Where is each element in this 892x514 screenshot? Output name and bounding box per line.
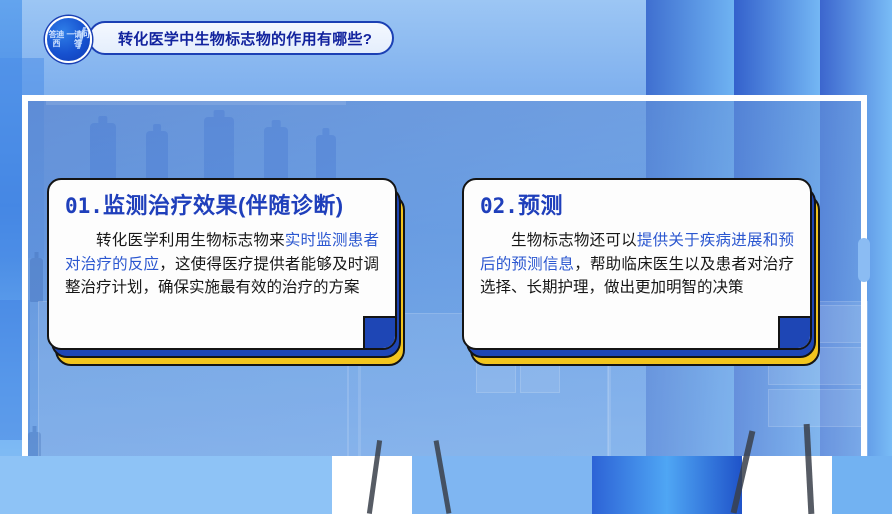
lab-bottle xyxy=(90,123,116,185)
card-title-1: 01.监测治疗效果(伴随诊断) xyxy=(65,194,379,218)
body-text: 转化医学利用生物标志物来 xyxy=(96,232,285,249)
slide-canvas: 答迪西一请问答 转化医学中生物标志物的作用有哪些? 01.监测治疗效果(伴随诊断… xyxy=(0,0,892,514)
brand-logo: 答迪西一请问答 xyxy=(45,16,92,63)
body-text: 生物标志物还可以 xyxy=(511,232,637,249)
frame-right-notch xyxy=(858,238,870,282)
floor-chip xyxy=(592,456,742,514)
card-body-2: 生物标志物还可以提供关于疾病进展和预后的预测信息，帮助临床医生以及患者对治疗选择… xyxy=(480,229,794,300)
card-number-2: 02. xyxy=(480,194,518,218)
floor-chip xyxy=(832,456,892,514)
page-title-pill: 转化医学中生物标志物的作用有哪些? xyxy=(88,21,394,55)
card-heading-1: 监测治疗效果(伴随诊断) xyxy=(103,193,344,218)
card-surface: 02.预测 生物标志物还可以提供关于疾病进展和预后的预测信息，帮助临床医生以及患… xyxy=(462,178,812,350)
info-card-2[interactable]: 02.预测 生物标志物还可以提供关于疾病进展和预后的预测信息，帮助临床医生以及患… xyxy=(462,178,820,366)
lab-bottle xyxy=(264,127,288,185)
page-title: 转化医学中生物标志物的作用有哪些? xyxy=(118,28,372,49)
card-number-1: 01. xyxy=(65,194,103,218)
card-title-2: 02.预测 xyxy=(480,194,794,218)
floor-chip xyxy=(0,456,332,514)
lab-bottle xyxy=(204,117,234,185)
card-body-1: 转化医学利用生物标志物来实时监测患者对治疗的反应，这使得医疗提供者能够及时调整治… xyxy=(65,229,379,300)
shelf-line xyxy=(46,101,346,105)
lab-bottle xyxy=(146,131,168,185)
card-fold-corner xyxy=(778,316,812,350)
info-card-1[interactable]: 01.监测治疗效果(伴随诊断) 转化医学利用生物标志物来实时监测患者对治疗的反应… xyxy=(47,178,405,366)
drawer-front xyxy=(768,389,864,427)
card-fold-corner xyxy=(363,316,397,350)
card-heading-2: 预测 xyxy=(518,193,563,218)
card-surface: 01.监测治疗效果(伴随诊断) 转化医学利用生物标志物来实时监测患者对治疗的反应… xyxy=(47,178,397,350)
